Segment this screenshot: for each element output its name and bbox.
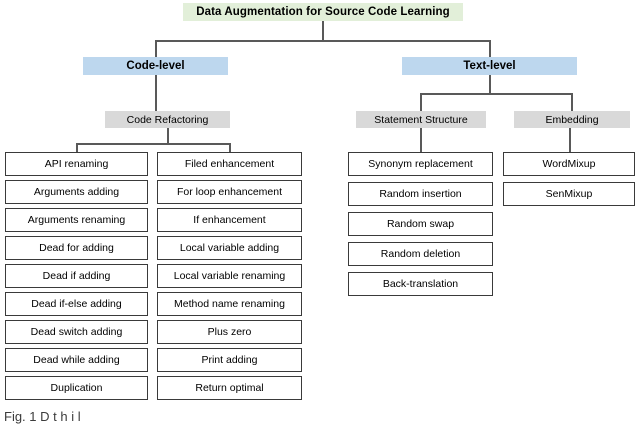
leaf-synonym-replacement: Synonym replacement (348, 152, 493, 176)
figure-caption: Fig. 1 D t h i l (4, 409, 81, 424)
leaf-dead-while-adding: Dead while adding (5, 348, 148, 372)
node-code-refactoring: Code Refactoring (105, 111, 230, 128)
leaf-plus-zero: Plus zero (157, 320, 302, 344)
connector-embedding-stem (569, 128, 571, 153)
node-statement-structure: Statement Structure (356, 111, 486, 128)
leaf-random-insertion: Random insertion (348, 182, 493, 206)
leaf-filed-enhancement: Filed enhancement (157, 152, 302, 176)
connector-text-level-bus (420, 93, 572, 95)
leaf-api-renaming: API renaming (5, 152, 148, 176)
leaf-dead-switch-adding: Dead switch adding (5, 320, 148, 344)
leaf-print-adding: Print adding (157, 348, 302, 372)
leaf-senmixup: SenMixup (503, 182, 635, 206)
leaf-dead-if-adding: Dead if adding (5, 264, 148, 288)
connector-code-refactoring-bus (76, 143, 230, 145)
connector-drop-text-level (489, 40, 491, 58)
leaf-arguments-adding: Arguments adding (5, 180, 148, 204)
node-code-level: Code-level (83, 57, 228, 75)
leaf-method-name-renaming: Method name renaming (157, 292, 302, 316)
leaf-random-swap: Random swap (348, 212, 493, 236)
leaf-duplication: Duplication (5, 376, 148, 400)
connector-drop-embedding (571, 93, 573, 112)
leaf-random-deletion: Random deletion (348, 242, 493, 266)
leaf-if-enhancement: If enhancement (157, 208, 302, 232)
connector-code-level-stem (155, 75, 157, 112)
connector-drop-statement-structure (420, 93, 422, 112)
connector-drop-code-level (155, 40, 157, 58)
leaf-wordmixup: WordMixup (503, 152, 635, 176)
leaf-local-variable-renaming: Local variable renaming (157, 264, 302, 288)
leaf-dead-for-adding: Dead for adding (5, 236, 148, 260)
node-embedding: Embedding (514, 111, 630, 128)
connector-code-refactoring-stem (167, 128, 169, 144)
leaf-return-optimal: Return optimal (157, 376, 302, 400)
leaf-arguments-renaming: Arguments renaming (5, 208, 148, 232)
connector-statement-structure-stem (420, 128, 422, 153)
leaf-dead-if-else-adding: Dead if-else adding (5, 292, 148, 316)
connector-root-stem (322, 21, 324, 41)
leaf-local-variable-adding: Local variable adding (157, 236, 302, 260)
leaf-for-loop-enhancement: For loop enhancement (157, 180, 302, 204)
diagram-canvas: Data Augmentation for Source Code Learni… (0, 0, 640, 425)
node-text-level: Text-level (402, 57, 577, 75)
connector-text-level-stem (489, 75, 491, 94)
leaf-back-translation: Back-translation (348, 272, 493, 296)
node-root: Data Augmentation for Source Code Learni… (183, 3, 463, 21)
connector-root-bus (155, 40, 490, 42)
